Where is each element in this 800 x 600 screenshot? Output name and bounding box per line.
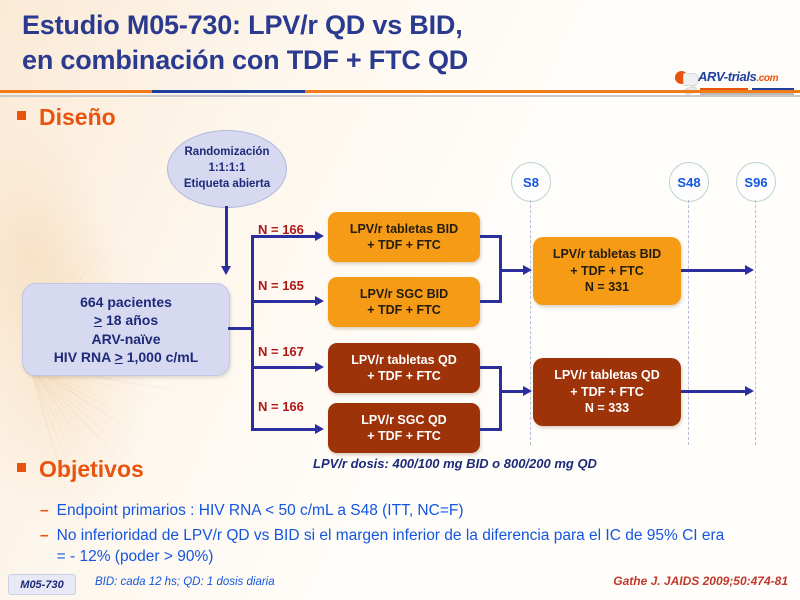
objective-text-2: No inferioridad de LPV/r QD vs BID si el…	[57, 525, 737, 567]
pool-line-3: N = 333	[585, 400, 629, 417]
header-divider	[0, 90, 800, 93]
pooled-group-box-bid: LPV/r tabletas BID + TDF + FTC N = 331	[533, 237, 681, 305]
bottle-body-icon	[683, 73, 699, 86]
study-id-badge: M05-730	[8, 574, 76, 595]
branch-line-4	[251, 428, 317, 431]
branch-arrow-4	[315, 424, 324, 434]
tail-arrow-qd	[745, 386, 754, 396]
section-label-objectives: Objetivos	[39, 456, 144, 482]
treatment-arm-box-3: LPV/r tabletas QD + TDF + FTC	[328, 343, 480, 393]
objective-item-2: –No inferioridad de LPV/r QD vs BID si e…	[40, 525, 780, 567]
randomization-arrow-shaft	[225, 206, 228, 268]
dose-note: LPV/r dosis: 400/100 mg BID o 800/200 mg…	[313, 456, 597, 471]
arm-line-1: LPV/r SGC BID	[360, 286, 448, 302]
randomization-line-3: Etiqueta abierta	[184, 177, 270, 193]
objective-text-1: Endpoint primarios : HIV RNA < 50 c/mL a…	[57, 502, 464, 519]
tail-arrow-bid	[745, 265, 754, 275]
population-node: 664 pacientes > 18 años ARV-naïve HIV RN…	[22, 283, 230, 376]
n-label-arm-2: N = 165	[258, 278, 304, 293]
bullet-square-icon	[17, 463, 26, 472]
treatment-arm-box-4: LPV/r SGC QD + TDF + FTC	[328, 403, 480, 453]
dash-bullet-icon: –	[40, 502, 49, 519]
section-label-design: Diseño	[39, 104, 116, 130]
logo-suffix: .com	[756, 73, 778, 84]
branch-line-3	[251, 366, 317, 369]
pool-line-1: LPV/r tabletas QD	[554, 367, 660, 384]
timepoint-guide-s96	[755, 200, 756, 445]
pool-line-2: + TDF + FTC	[570, 263, 644, 280]
pooled-group-box-qd: LPV/r tabletas QD + TDF + FTC N = 333	[533, 358, 681, 426]
population-line-3: ARV-naïve	[92, 330, 161, 348]
arm-line-1: LPV/r tabletas BID	[350, 221, 458, 237]
treatment-arm-box-2: LPV/r SGC BID + TDF + FTC	[328, 277, 480, 327]
pill-bottle-icon	[676, 70, 696, 87]
n-label-arm-4: N = 166	[258, 399, 304, 414]
population-line-2: > 18 años	[94, 311, 158, 329]
divider-segment-blue	[152, 90, 305, 93]
n-label-arm-1: N = 166	[258, 222, 304, 237]
page-title: Estudio M05-730: LPV/r QD vs BID, en com…	[22, 8, 682, 78]
split-spine	[251, 235, 254, 431]
arm-line-2: + TDF + FTC	[367, 237, 441, 253]
merge-arrow-bid	[523, 265, 532, 275]
arm-line-1: LPV/r tabletas QD	[351, 352, 457, 368]
branch-arrow-2	[315, 296, 324, 306]
tail-line-qd	[681, 390, 747, 393]
timepoint-s8: S8	[511, 162, 551, 202]
divider-segment-orange-right	[305, 90, 800, 93]
randomization-arrow-head	[221, 266, 231, 275]
branch-arrow-3	[315, 362, 324, 372]
pool-line-3: N = 331	[585, 279, 629, 296]
population-line-4: HIV RNA > 1,000 c/mL	[54, 348, 199, 366]
timepoint-guide-s8	[530, 200, 531, 445]
ge-operator: >	[115, 349, 123, 365]
population-line-1: 664 pacientes	[80, 293, 172, 311]
arm-line-2: + TDF + FTC	[367, 302, 441, 318]
timepoint-s96: S96	[736, 162, 776, 202]
pool-line-2: + TDF + FTC	[570, 384, 644, 401]
pool-line-1: LPV/r tabletas BID	[553, 246, 661, 263]
footer-note: BID: cada 12 hs; QD: 1 dosis diaria	[95, 576, 275, 588]
arm-line-2: + TDF + FTC	[367, 428, 441, 444]
branch-arrow-1	[315, 231, 324, 241]
timepoint-s48: S48	[669, 162, 709, 202]
merge-arrow-qd	[523, 386, 532, 396]
objective-item-1: –Endpoint primarios : HIV RNA < 50 c/mL …	[40, 500, 780, 521]
divider-segment-orange-left	[0, 90, 152, 93]
arv-trials-logo: ARV-trials.com	[676, 68, 794, 98]
arm-line-2: + TDF + FTC	[367, 368, 441, 384]
bullet-square-icon	[17, 111, 26, 120]
ge-operator: >	[94, 312, 102, 328]
dash-bullet-icon: –	[40, 527, 49, 544]
slide-canvas: Estudio M05-730: LPV/r QD vs BID, en com…	[0, 0, 800, 600]
title-line-1: Estudio M05-730: LPV/r QD vs BID,	[22, 8, 682, 43]
arm-line-1: LPV/r SGC QD	[361, 412, 446, 428]
branch-line-2	[251, 300, 317, 303]
merge-out-bid	[499, 269, 525, 272]
n-label-arm-3: N = 167	[258, 344, 304, 359]
footer-citation: Gathe J. JAIDS 2009;50:474-81	[613, 574, 788, 588]
timepoint-guide-s48	[688, 200, 689, 445]
randomization-line-1: Randomización	[185, 145, 270, 161]
treatment-arm-box-1: LPV/r tabletas BID + TDF + FTC	[328, 212, 480, 262]
logo-text: ARV-trials.com	[698, 69, 778, 84]
randomization-line-2: 1:1:1:1	[208, 161, 245, 177]
randomization-node: Randomización 1:1:1:1 Etiqueta abierta	[167, 130, 287, 208]
merge-bracket-qd	[499, 366, 502, 431]
section-heading-objectives: Objetivos	[17, 456, 144, 483]
merge-out-qd	[499, 390, 525, 393]
tail-line-bid	[681, 269, 747, 272]
title-line-2: en combinación con TDF + FTC QD	[22, 43, 682, 78]
header-divider-gray	[0, 95, 800, 97]
section-heading-design: Diseño	[17, 104, 116, 131]
